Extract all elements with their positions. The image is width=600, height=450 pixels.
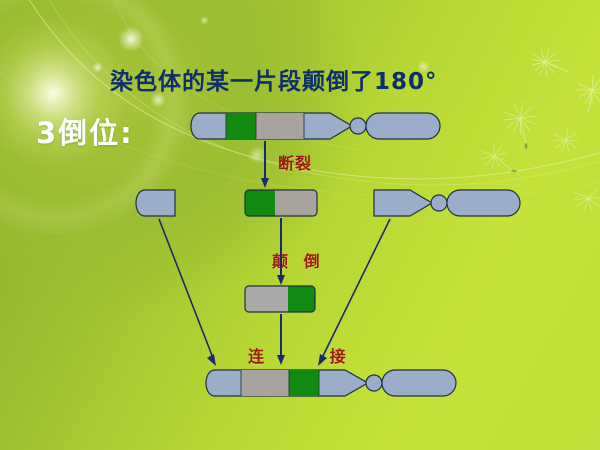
chromosome-right-arm: [382, 370, 456, 396]
left-fragment: [136, 190, 175, 216]
centromere: [366, 375, 382, 391]
fragment-left-arm: [374, 190, 432, 216]
band-grey: [256, 111, 304, 141]
fragment-right-arm: [447, 190, 520, 216]
original-chromosome: [191, 111, 440, 141]
arrow-rejoin: [277, 314, 285, 365]
result-chromosome: [206, 368, 456, 398]
arrow-invert: [277, 218, 285, 285]
centromere: [350, 118, 366, 134]
band-green: [289, 368, 319, 398]
middle-fragment: [245, 189, 319, 217]
band-grey: [241, 368, 289, 398]
centromere: [431, 195, 447, 211]
band-green: [288, 285, 318, 313]
band-grey: [275, 189, 319, 217]
broken-fragments: [136, 189, 520, 217]
band-green: [226, 111, 256, 141]
inverted-fragment: [245, 285, 318, 313]
band-green: [245, 189, 275, 217]
slide-canvas: 染色体的某一片段颠倒了180° 3倒位: 断裂 颠 倒 连 接: [0, 0, 600, 450]
arrow-right-join: [318, 219, 390, 366]
arrow-left-join: [159, 219, 216, 366]
chromosome-diagram: [0, 0, 600, 450]
chromosome-right-arm: [366, 113, 440, 139]
band-grey: [245, 285, 288, 313]
right-fragment: [374, 190, 520, 216]
arrow-break: [261, 141, 269, 188]
